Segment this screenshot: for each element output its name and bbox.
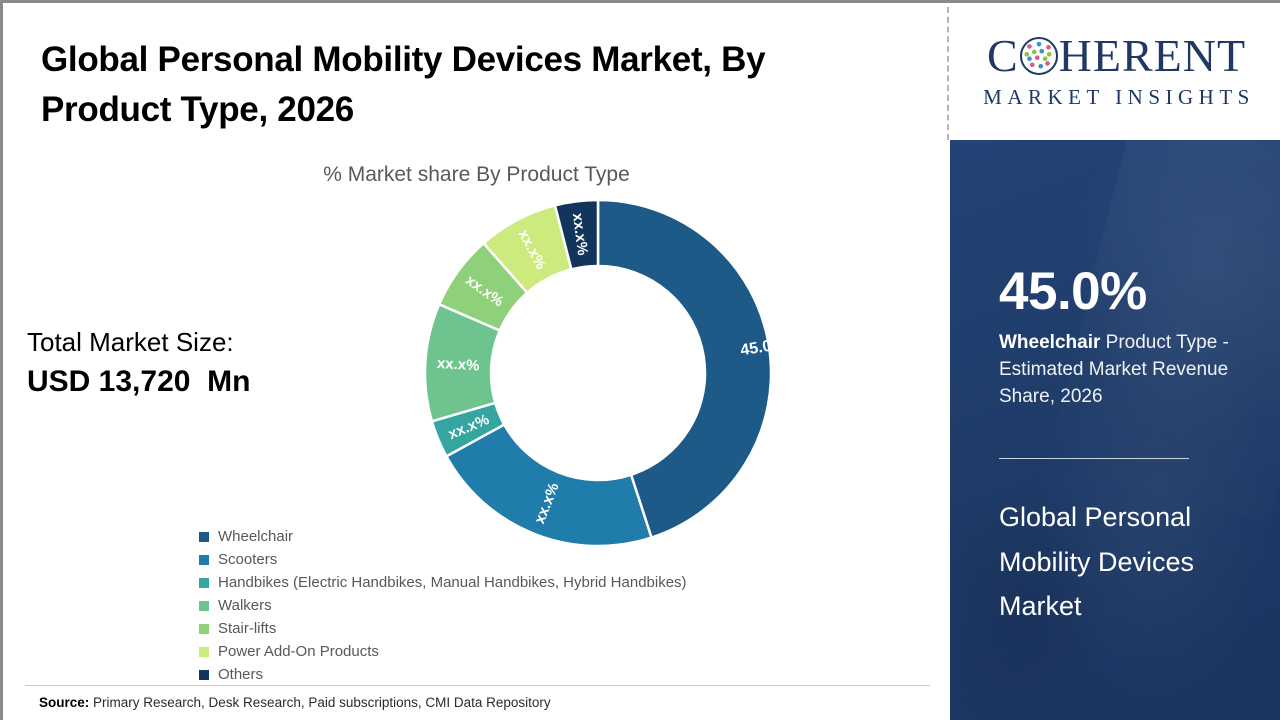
source-divider xyxy=(25,685,930,686)
market-name: Global Personal Mobility Devices Market xyxy=(999,495,1261,629)
right-brand-panel: C HERENT MARKET INSIGHTS 45.0% Wheelchai… xyxy=(950,3,1280,720)
stat-panel-divider xyxy=(999,458,1189,459)
legend-swatch-icon xyxy=(199,555,209,565)
legend-item[interactable]: Wheelchair xyxy=(199,525,899,548)
legend-item-label: Wheelchair xyxy=(218,525,293,548)
legend-item[interactable]: Power Add-On Products xyxy=(199,640,899,663)
legend-item[interactable]: Scooters xyxy=(199,548,899,571)
legend-item-label: Others xyxy=(218,663,263,686)
donut-chart-svg: 45.0%xx.x%xx.x%xx.x%xx.x%xx.x%xx.x% xyxy=(403,193,793,553)
infographic-canvas: Global Personal Mobility Devices Market,… xyxy=(0,0,1280,720)
brand-logo-letter-c: C xyxy=(987,33,1019,79)
total-market-size-value: USD 13,720 Mn xyxy=(27,362,250,403)
source-text: Primary Research, Desk Research, Paid su… xyxy=(89,695,550,710)
source-label: Source: xyxy=(39,695,89,710)
total-market-size-label: Total Market Size: xyxy=(27,325,250,360)
globe-icon xyxy=(1020,37,1058,75)
legend-swatch-icon xyxy=(199,624,209,634)
stat-description: Wheelchair Product Type - Estimated Mark… xyxy=(999,330,1257,411)
brand-logo: C HERENT MARKET INSIGHTS xyxy=(950,3,1280,140)
panel-dashed-divider xyxy=(947,7,949,140)
legend-item[interactable]: Walkers xyxy=(199,594,899,617)
donut-chart: 45.0%xx.x%xx.x%xx.x%xx.x%xx.x%xx.x% xyxy=(403,193,793,553)
legend-item-label: Stair-lifts xyxy=(218,617,276,640)
stat-panel: 45.0% Wheelchair Product Type - Estimate… xyxy=(950,140,1280,720)
legend-swatch-icon xyxy=(199,578,209,588)
chart-subtitle: % Market share By Product Type xyxy=(3,163,950,187)
chart-legend: WheelchairScootersHandbikes (Electric Ha… xyxy=(199,525,899,686)
legend-item[interactable]: Others xyxy=(199,663,899,686)
page-title: Global Personal Mobility Devices Market,… xyxy=(41,35,871,135)
brand-logo-tagline: MARKET INSIGHTS xyxy=(978,85,1255,110)
brand-logo-letters-herent: HERENT xyxy=(1059,33,1246,79)
source-note: Source: Primary Research, Desk Research,… xyxy=(39,695,551,710)
legend-swatch-icon xyxy=(199,647,209,657)
legend-item-label: Handbikes (Electric Handbikes, Manual Ha… xyxy=(218,571,687,594)
left-content-panel: Global Personal Mobility Devices Market,… xyxy=(3,3,950,720)
legend-swatch-icon xyxy=(199,532,209,542)
stat-description-highlight: Wheelchair xyxy=(999,332,1100,353)
stat-value: 45.0% xyxy=(999,265,1147,318)
donut-slice-label: xx.x% xyxy=(436,355,480,375)
legend-item[interactable]: Stair-lifts xyxy=(199,617,899,640)
legend-item-label: Walkers xyxy=(218,594,272,617)
legend-item[interactable]: Handbikes (Electric Handbikes, Manual Ha… xyxy=(199,571,899,594)
total-market-size: Total Market Size: USD 13,720 Mn xyxy=(27,325,250,403)
legend-item-label: Power Add-On Products xyxy=(218,640,379,663)
legend-swatch-icon xyxy=(199,670,209,680)
legend-item-label: Scooters xyxy=(218,548,277,571)
brand-logo-wordmark: C HERENT xyxy=(987,33,1246,79)
legend-swatch-icon xyxy=(199,601,209,611)
